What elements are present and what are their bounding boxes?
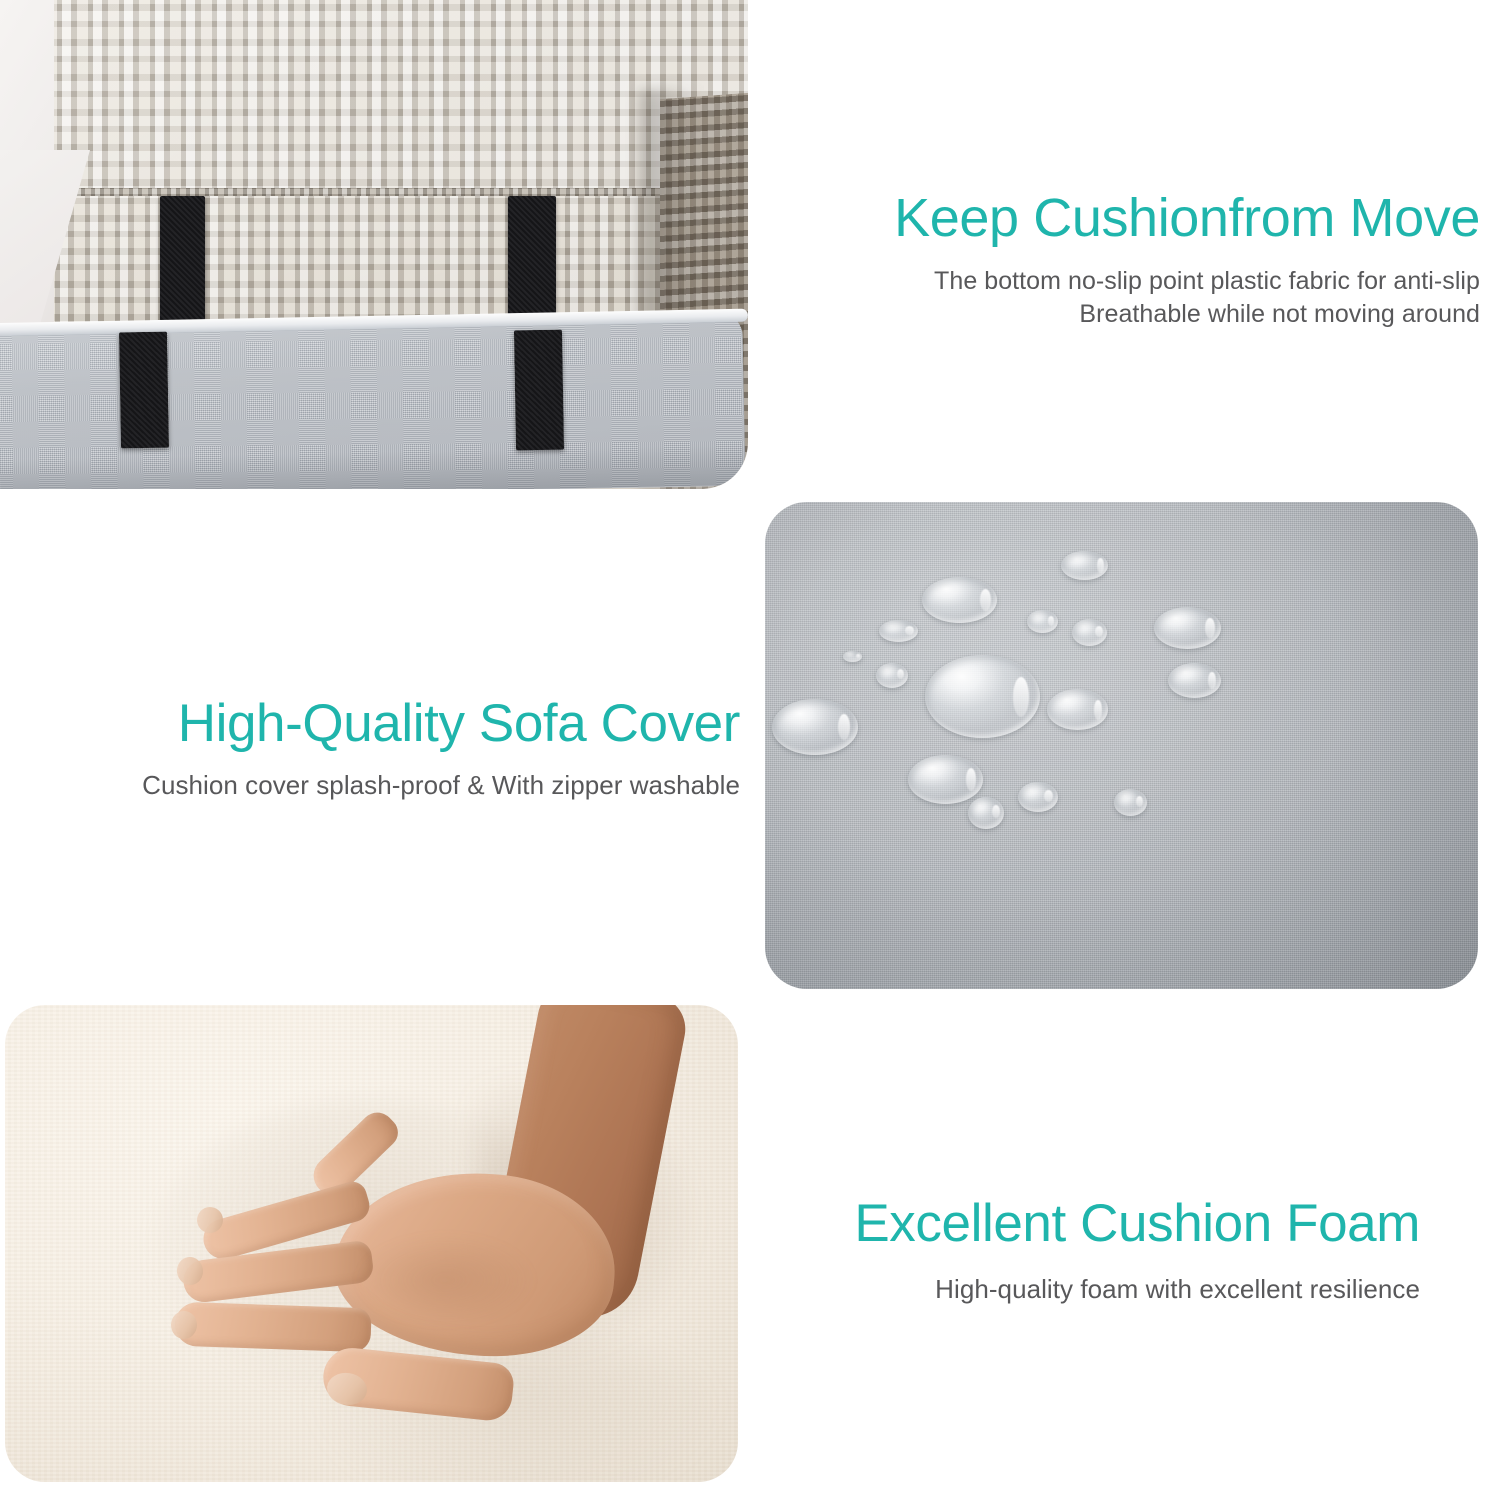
foam-hand-photo bbox=[5, 1005, 738, 1482]
wicker-velcro-photo bbox=[0, 0, 748, 489]
finger-ring bbox=[174, 1302, 371, 1353]
photo-vignette bbox=[765, 502, 1478, 989]
feature-headline-sofa-cover: High-Quality Sofa Cover bbox=[40, 696, 740, 752]
water-droplets-photo bbox=[765, 502, 1478, 989]
wicker-lid-weave bbox=[0, 0, 748, 196]
wicker-shelf-weave bbox=[0, 196, 700, 330]
knuckle-shading bbox=[355, 1235, 535, 1325]
feature-headline-cushion-foam: Excellent Cushion Foam bbox=[760, 1196, 1420, 1252]
feature-text-keep-cushion: Keep Cushionfrom Move The bottom no-slip… bbox=[790, 190, 1480, 331]
feature-subline-line1: The bottom no-slip point plastic fabric … bbox=[790, 265, 1480, 298]
feature-text-cushion-foam: Excellent Cushion Foam High-quality foam… bbox=[760, 1196, 1420, 1306]
feature-subline-keep-cushion: The bottom no-slip point plastic fabric … bbox=[790, 265, 1480, 331]
feature-text-sofa-cover: High-Quality Sofa Cover Cushion cover sp… bbox=[40, 696, 740, 802]
velcro-strip-cushion-left bbox=[119, 332, 169, 449]
feature-subline-line2: Breathable while not moving around bbox=[790, 298, 1480, 331]
feature-headline-keep-cushion: Keep Cushionfrom Move bbox=[790, 190, 1480, 247]
feature-subline-cushion-foam: High-quality foam with excellent resilie… bbox=[760, 1272, 1420, 1306]
feature-subline-sofa-cover: Cushion cover splash-proof & With zipper… bbox=[40, 768, 740, 802]
velcro-strip-cushion-right bbox=[514, 330, 564, 451]
